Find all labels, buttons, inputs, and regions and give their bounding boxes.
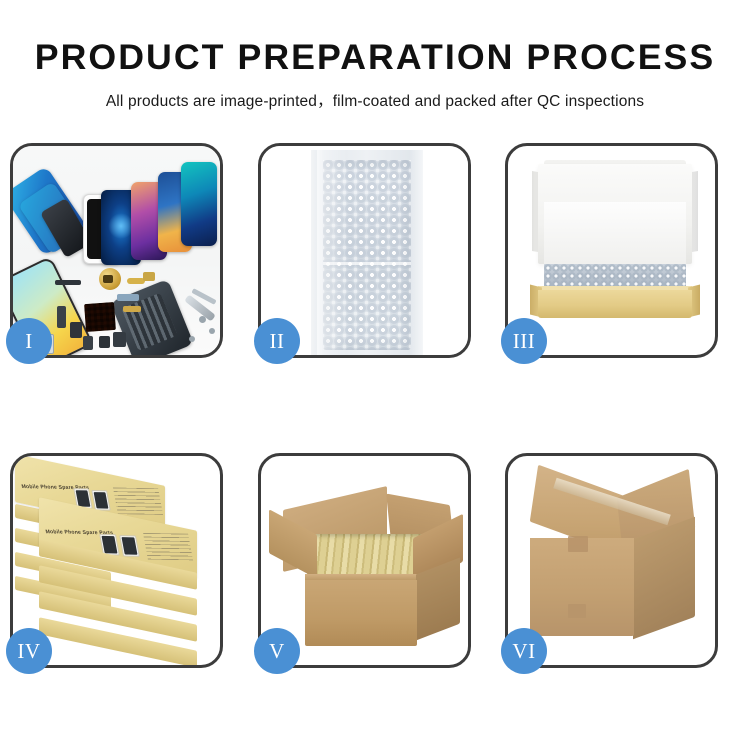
step-panel-5: V	[258, 453, 471, 668]
step-panel-2: II	[258, 143, 471, 358]
sealed-carton-side-face	[633, 517, 695, 640]
screw-icon-1	[199, 316, 206, 323]
bubble-wrap-highlight	[317, 146, 347, 358]
part-ribbon-icon	[117, 294, 139, 301]
step-badge-3: III	[501, 318, 547, 364]
screw-icon-3	[189, 336, 195, 342]
step-badge-2: II	[254, 318, 300, 364]
box-spec-lines-back	[113, 488, 163, 515]
part-strip-icon	[55, 280, 81, 285]
carton-flap-tab-top	[568, 536, 588, 552]
part-chip-icon	[99, 336, 110, 348]
step-panel-6: VI	[505, 453, 718, 668]
box-spec-lines-front	[143, 533, 193, 560]
carton-flap-tab-bottom	[568, 604, 586, 618]
step-panel-4: Mobile Phone Spare Parts Mobile Phone Sp…	[10, 453, 223, 668]
kraft-box-front-icon	[538, 290, 692, 318]
packed-retail-boxes-icon	[307, 534, 423, 578]
box-screen-thumb-4	[119, 535, 140, 557]
chip-grid-icon	[84, 302, 116, 332]
box-screen-thumb-2	[91, 490, 111, 511]
screw-icon-2	[209, 328, 215, 334]
carton-front-face	[305, 580, 417, 646]
step-badge-6: VI	[501, 628, 547, 674]
step-panel-3: III	[505, 143, 718, 358]
teal-gradient-phone-icon	[181, 162, 217, 246]
part-connector-icon	[143, 272, 155, 281]
sealed-carton-front-face	[530, 538, 634, 636]
header: PRODUCT PREPARATION PROCESS All products…	[0, 0, 750, 111]
page-subtitle: All products are image-printed，film-coat…	[0, 75, 750, 111]
step-badge-4: IV	[6, 628, 52, 674]
part-camera-icon	[83, 336, 93, 350]
product-preparation-infographic: PRODUCT PREPARATION PROCESS All products…	[0, 0, 750, 750]
part-shield-icon	[113, 332, 126, 347]
steps-grid: I II	[0, 143, 750, 678]
part-module-icon	[70, 322, 82, 338]
foam-insert-icon	[544, 202, 686, 264]
step-panel-1: I	[10, 143, 223, 358]
speaker-coil-icon	[99, 268, 121, 290]
step-badge-5: V	[254, 628, 300, 674]
part-gold-flex-icon	[123, 306, 141, 312]
step-badge-1: I	[6, 318, 52, 364]
page-title: PRODUCT PREPARATION PROCESS	[0, 0, 750, 75]
part-bracket-icon	[57, 306, 66, 328]
